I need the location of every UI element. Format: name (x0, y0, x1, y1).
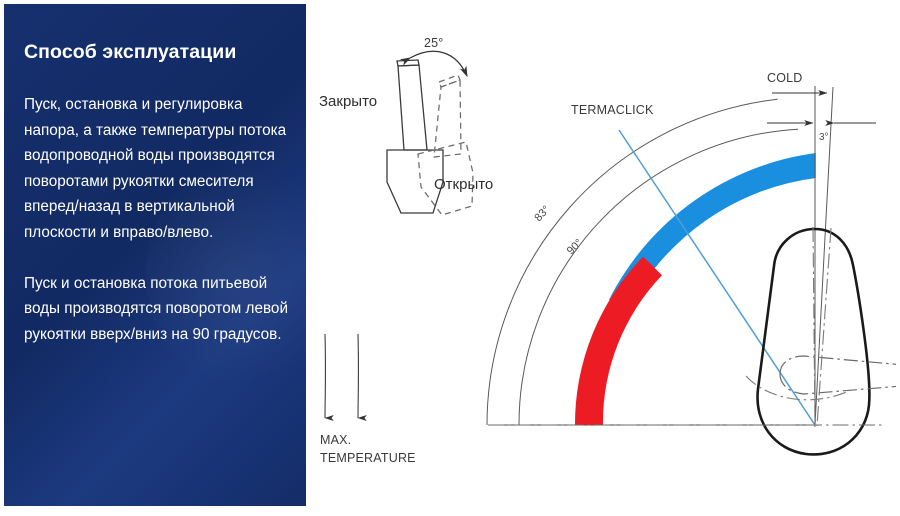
lever-angle-label: 25° (424, 36, 444, 50)
instruction-panel: Способ эксплуатации Пуск, остановка и ре… (4, 4, 306, 506)
page-title: Способ эксплуатации (24, 41, 236, 64)
lever-closed-label: Закрыто (319, 93, 377, 110)
instruction-paragraph-2: Пуск и остановка потока питьевой воды пр… (24, 271, 296, 348)
arc-subdiagram: 83° 90° MAX. TEMPERATURE TERMACLICK (320, 71, 896, 465)
termaclick-label: TERMACLICK (571, 103, 654, 117)
faucet-spout-upper (780, 356, 896, 374)
faucet-base-ellipse (746, 376, 851, 400)
cold-label: COLD (767, 71, 803, 85)
lever-subdiagram: 25° Закрыто Открыто (319, 36, 493, 215)
max-temperature-label-line2: TEMPERATURE (320, 451, 416, 465)
hot-band (575, 257, 662, 425)
angle-label-83: 83° (532, 204, 552, 224)
max-temperature-label-line1: MAX. (320, 433, 351, 447)
instruction-paragraph-1: Пуск, остановка и регулировка напора, а … (24, 92, 296, 246)
instruction-body: Пуск, остановка и регулировка напора, а … (24, 92, 296, 347)
cold-angle-label: 3° (819, 132, 829, 143)
lever-open-label: Открыто (434, 176, 493, 193)
faucet-spout-lower (780, 374, 896, 394)
slide-root: Способ эксплуатации Пуск, остановка и ре… (0, 0, 900, 516)
angle-label-90: 90° (565, 237, 585, 257)
technical-diagram: 25° Закрыто Открыто 83° 90° (306, 4, 896, 506)
